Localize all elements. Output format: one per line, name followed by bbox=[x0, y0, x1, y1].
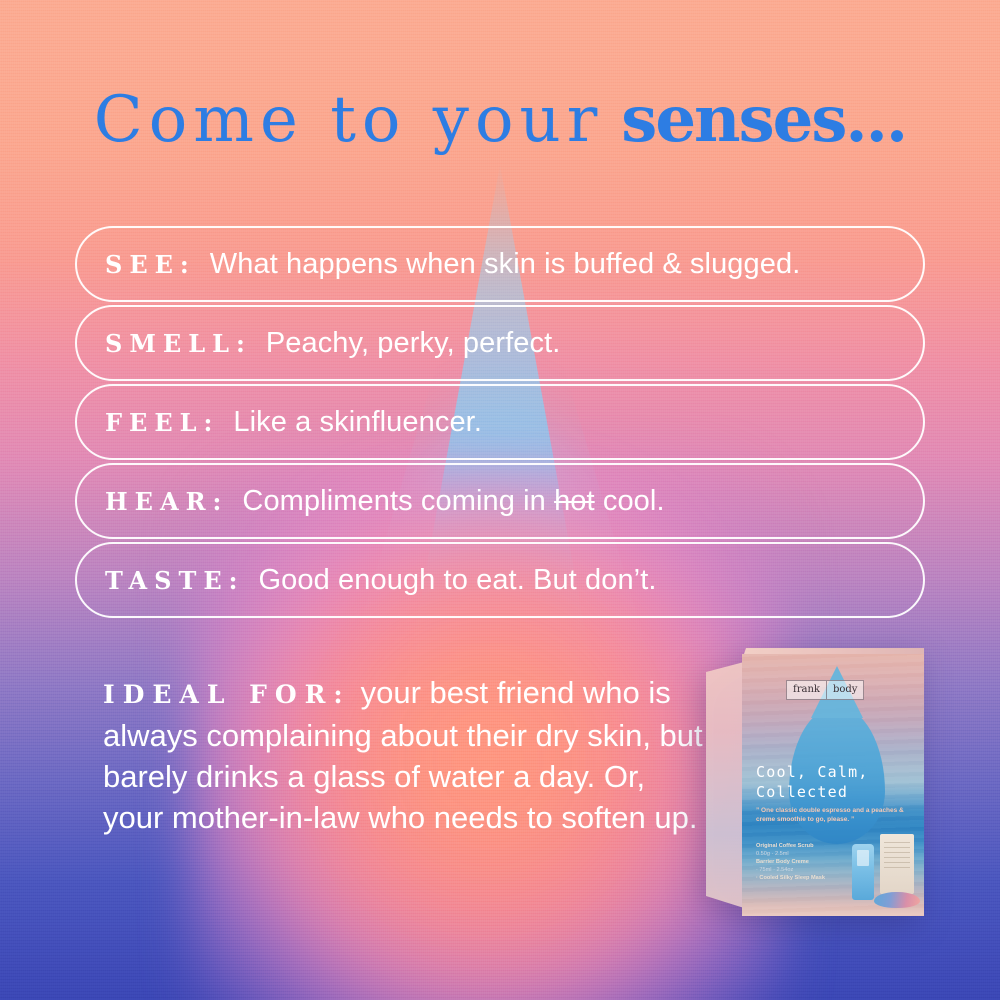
sense-row-smell: SMELL: Peachy, perky, perfect. bbox=[75, 305, 925, 381]
ideal-for-paragraph: IDEAL FOR:your best friend who is always… bbox=[103, 672, 703, 838]
box-product-tube-image bbox=[852, 844, 874, 900]
hear-text-after: cool. bbox=[595, 485, 665, 517]
frank-body-logo: frank body bbox=[786, 680, 864, 700]
sense-row-see: SEE: What happens when skin is buffed & … bbox=[75, 226, 925, 302]
headline-part-1: Come to your bbox=[94, 83, 604, 157]
sense-row-hear: HEAR: Compliments coming in hot cool. bbox=[75, 463, 925, 539]
logo-word-body: body bbox=[827, 681, 863, 699]
product-box-front-panel: frank body Cool, Calm, Collected ” One c… bbox=[742, 654, 924, 916]
headline-part-2: senses... bbox=[621, 82, 906, 157]
sense-row-taste: TASTE: Good enough to eat. But don’t. bbox=[75, 542, 925, 618]
sense-text-hear: Compliments coming in hot cool. bbox=[242, 485, 664, 518]
sense-text-taste: Good enough to eat. But don’t. bbox=[259, 564, 657, 597]
sense-label-taste: TASTE: bbox=[105, 566, 245, 595]
sense-label-hear: HEAR: bbox=[105, 487, 228, 516]
poster-content: Come to yoursenses... SEE: What happens … bbox=[0, 0, 1000, 1000]
sense-text-smell: Peachy, perky, perfect. bbox=[266, 327, 561, 360]
box-product-sleep-mask-image bbox=[874, 892, 920, 908]
poster-canvas: Come to yoursenses... SEE: What happens … bbox=[0, 0, 1000, 1000]
sense-label-smell: SMELL: bbox=[105, 329, 252, 358]
box-product-quote: ” One classic double espresso and a peac… bbox=[756, 806, 906, 824]
hear-text-before: Compliments coming in bbox=[242, 485, 554, 517]
sense-label-see: SEE: bbox=[105, 250, 196, 279]
box-product-title: Cool, Calm, Collected bbox=[756, 762, 916, 802]
logo-word-frank: frank bbox=[787, 681, 827, 699]
product-box: frank body Cool, Calm, Collected ” One c… bbox=[706, 648, 924, 920]
hear-text-struck: hot bbox=[554, 485, 595, 517]
sense-text-see: What happens when skin is buffed & slugg… bbox=[210, 248, 801, 281]
headline: Come to yoursenses... bbox=[0, 88, 1000, 152]
sense-label-feel: FEEL: bbox=[105, 408, 219, 437]
product-box-side-panel bbox=[706, 662, 744, 908]
ideal-for-label: IDEAL FOR: bbox=[103, 680, 351, 709]
senses-list: SEE: What happens when skin is buffed & … bbox=[75, 226, 925, 621]
sense-text-feel: Like a skinfluencer. bbox=[233, 406, 482, 439]
box-product-sachet-image bbox=[880, 834, 914, 894]
sense-row-feel: FEEL: Like a skinfluencer. bbox=[75, 384, 925, 460]
